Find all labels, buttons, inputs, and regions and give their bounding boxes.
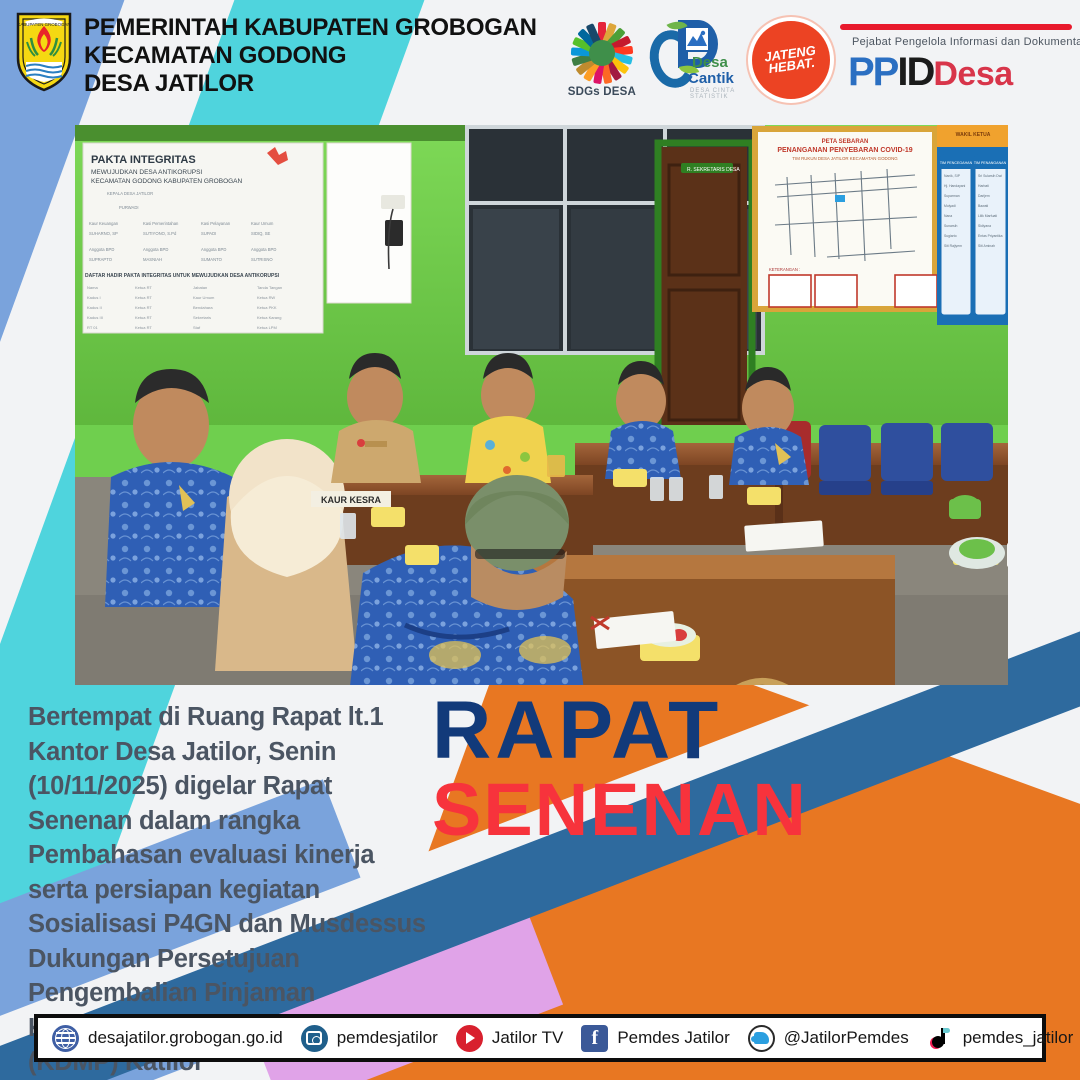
footer-label-tiktok: pemdes_jatilor (963, 1028, 1074, 1048)
svg-text:Mulyadi: Mulyadi (944, 204, 956, 208)
title-line-rapat: RAPAT (432, 690, 722, 772)
svg-text:Siti Aminah: Siti Aminah (978, 244, 995, 248)
svg-text:Staf: Staf (193, 325, 201, 330)
svg-text:PAKTA INTEGRITAS: PAKTA INTEGRITAS (91, 154, 196, 166)
footer-item-youtube[interactable]: Jatilor TV (456, 1025, 564, 1052)
footer-item-twitter[interactable]: @JatilorPemdes (748, 1025, 909, 1052)
globe-icon (52, 1025, 79, 1052)
ppid-desa-text: Desa (933, 55, 1012, 93)
svg-text:PURWADI: PURWADI (119, 205, 139, 210)
svg-text:PENANGANAN PENYEBARAN COVID-19: PENANGANAN PENYEBARAN COVID-19 (777, 147, 912, 154)
meeting-room-illustration: PAKTA INTEGRITAS MEWUJUDKAN DESA ANTIKOR… (75, 125, 1008, 685)
svg-text:Kadus III: Kadus III (87, 315, 103, 320)
svg-text:Anggota BPD: Anggota BPD (89, 247, 114, 252)
svg-text:Sidiyana: Sidiyana (978, 224, 991, 228)
footer-item-website[interactable]: desajatilor.grobogan.go.id (52, 1025, 283, 1052)
svg-text:KEPALA DESA JATILOR: KEPALA DESA JATILOR (107, 191, 153, 196)
svg-text:Anggota BPD: Anggota BPD (201, 247, 226, 252)
svg-text:Kaur Umum: Kaur Umum (193, 295, 215, 300)
poster-canvas: KABUPATEN GROBOGAN PEMERINTAH KABUPATEN … (0, 0, 1080, 1080)
svg-text:Entas Priyantika: Entas Priyantika (978, 234, 1003, 238)
svg-text:PETA SEBARAN: PETA SEBARAN (822, 139, 869, 145)
svg-text:Ketua RT: Ketua RT (135, 285, 152, 290)
svg-text:Nanik, SIP: Nanik, SIP (944, 174, 961, 178)
page-header: KABUPATEN GROBOGAN PEMERINTAH KABUPATEN … (0, 0, 1080, 122)
svg-text:TIM PENANGANAN: TIM PENANGANAN (974, 161, 1007, 165)
footer-item-facebook[interactable]: f Pemdes Jatilor (581, 1025, 729, 1052)
svg-text:Kadus II: Kadus II (87, 305, 102, 310)
svg-text:Harbati: Harbati (978, 184, 989, 188)
svg-text:Sugiarto: Sugiarto (944, 234, 957, 238)
svg-text:Kasi Pemerintahan: Kasi Pemerintahan (143, 221, 179, 226)
ppid-subtitle: Pejabat Pengelola Informasi dan Dokument… (852, 36, 1080, 48)
svg-text:Darijem: Darijem (978, 194, 990, 198)
svg-text:Lilik Marfuati: Lilik Marfuati (978, 214, 997, 218)
svg-text:Sunarsih: Sunarsih (944, 224, 957, 228)
footer-label-instagram: pemdesjatilor (337, 1028, 438, 1048)
svg-text:Siti Rajiyem: Siti Rajiyem (944, 244, 962, 248)
svg-text:Ketua RT: Ketua RT (135, 315, 152, 320)
instagram-icon (301, 1025, 328, 1052)
svg-text:Suparman: Suparman (944, 194, 960, 198)
header-line-1: PEMERINTAH KABUPATEN GROBOGAN (84, 14, 537, 42)
footer-label-twitter: @JatilorPemdes (784, 1028, 909, 1048)
svg-text:Jabatan: Jabatan (193, 285, 207, 290)
svg-text:SUHARNO, SP: SUHARNO, SP (89, 231, 118, 236)
svg-text:Ketua RT: Ketua RT (135, 305, 152, 310)
svg-text:SUTIYONO, S.Pd: SUTIYONO, S.Pd (143, 231, 177, 236)
header-line-3: DESA JATILOR (84, 70, 537, 98)
sdgs-wheel-icon (571, 22, 633, 84)
svg-text:R. SEKRETARIS DESA: R. SEKRETARIS DESA (687, 167, 740, 173)
header-line-2: KECAMATAN GODONG (84, 42, 537, 70)
footer-item-instagram[interactable]: pemdesjatilor (301, 1025, 438, 1052)
desa-cantik-mark-icon: Desa Cantik DESA CINTA STATISTIK (646, 16, 742, 104)
svg-text:SUPRAPTO: SUPRAPTO (89, 257, 113, 262)
svg-text:Sekretaris: Sekretaris (193, 315, 211, 320)
social-footer-bar: desajatilor.grobogan.go.id pemdesjatilor… (34, 1014, 1046, 1062)
svg-text:MEWUJUDKAN DESA ANTIKORUPSI: MEWUJUDKAN DESA ANTIKORUPSI (91, 169, 202, 176)
desa-cantik-logo: Desa Cantik DESA CINTA STATISTIK (646, 8, 742, 112)
svg-text:Hj. Handayani: Hj. Handayani (944, 184, 966, 188)
kabupaten-grobogan-crest-icon: KABUPATEN GROBOGAN (14, 10, 74, 92)
svg-text:Sri Sularsih Dwi: Sri Sularsih Dwi (978, 174, 1002, 178)
header-logo-row: SDGs DESA Desa Cantik DESA CINTA STA (568, 4, 1072, 116)
footer-item-tiktok[interactable]: pemdes_jatilor (927, 1025, 1074, 1052)
svg-text:Bendahara: Bendahara (193, 305, 213, 310)
svg-text:Nana: Nana (944, 214, 952, 218)
ppid-id-text: ID (897, 50, 933, 94)
ppid-desa-logo: Pejabat Pengelola Informasi dan Dokument… (840, 8, 1072, 112)
jateng-hebat-logo: JATENG HEBAT. (752, 8, 830, 112)
svg-text:KECAMATAN GODONG KABUPATEN GRO: KECAMATAN GODONG KABUPATEN GROBOGAN (91, 178, 243, 185)
svg-text:Ketua RT: Ketua RT (135, 325, 152, 330)
desa-cantik-label-bottom: Cantik (688, 70, 734, 87)
svg-text:KABUPATEN GROBOGAN: KABUPATEN GROBOGAN (17, 22, 70, 27)
svg-text:SUMANTO: SUMANTO (201, 257, 223, 262)
svg-text:WAKIL KETUA: WAKIL KETUA (956, 132, 991, 138)
footer-label-youtube: Jatilor TV (492, 1028, 564, 1048)
svg-text:MASNIAH: MASNIAH (143, 257, 162, 262)
youtube-icon (456, 1025, 483, 1052)
svg-text:TIM PENCEGAHAN: TIM PENCEGAHAN (940, 161, 973, 165)
svg-text:Kaur Keuangan: Kaur Keuangan (89, 221, 119, 226)
svg-text:Anggota BPD: Anggota BPD (143, 247, 168, 252)
rapat-senenan-photo: PAKTA INTEGRITAS MEWUJUDKAN DESA ANTIKOR… (75, 125, 1008, 685)
footer-label-website: desajatilor.grobogan.go.id (88, 1028, 283, 1048)
sdgs-desa-label: SDGs DESA (568, 86, 636, 98)
svg-text:Ketua RT: Ketua RT (135, 295, 152, 300)
header-title-block: PEMERINTAH KABUPATEN GROBOGAN KECAMATAN … (84, 14, 537, 98)
footer-label-facebook: Pemdes Jatilor (617, 1028, 729, 1048)
tiktok-icon (927, 1025, 954, 1052)
ppid-pp-text: PP (848, 50, 897, 94)
svg-text:Nama: Nama (87, 285, 98, 290)
sdgs-desa-logo: SDGs DESA (568, 8, 636, 112)
svg-text:RT 01: RT 01 (87, 325, 99, 330)
facebook-icon: f (581, 1025, 608, 1052)
twitter-icon (748, 1025, 775, 1052)
ppid-red-bar (840, 24, 1072, 30)
svg-text:Bawati: Bawati (978, 204, 988, 208)
desa-cantik-label-top: Desa (692, 54, 728, 71)
svg-text:TIM RUKUN DESA JATILOR KECAMAT: TIM RUKUN DESA JATILOR KECAMATAN GODONG (792, 156, 898, 161)
svg-text:SUPADI: SUPADI (201, 231, 216, 236)
svg-text:Kadus I: Kadus I (87, 295, 101, 300)
jateng-hebat-badge-icon: JATENG HEBAT. (752, 21, 830, 99)
svg-text:KETERANGAN :: KETERANGAN : (769, 267, 800, 272)
desa-cantik-tagline: DESA CINTA STATISTIK (690, 88, 742, 100)
svg-text:KAUR KESRA: KAUR KESRA (321, 495, 382, 505)
title-line-senenan: SENENAN (432, 772, 808, 848)
